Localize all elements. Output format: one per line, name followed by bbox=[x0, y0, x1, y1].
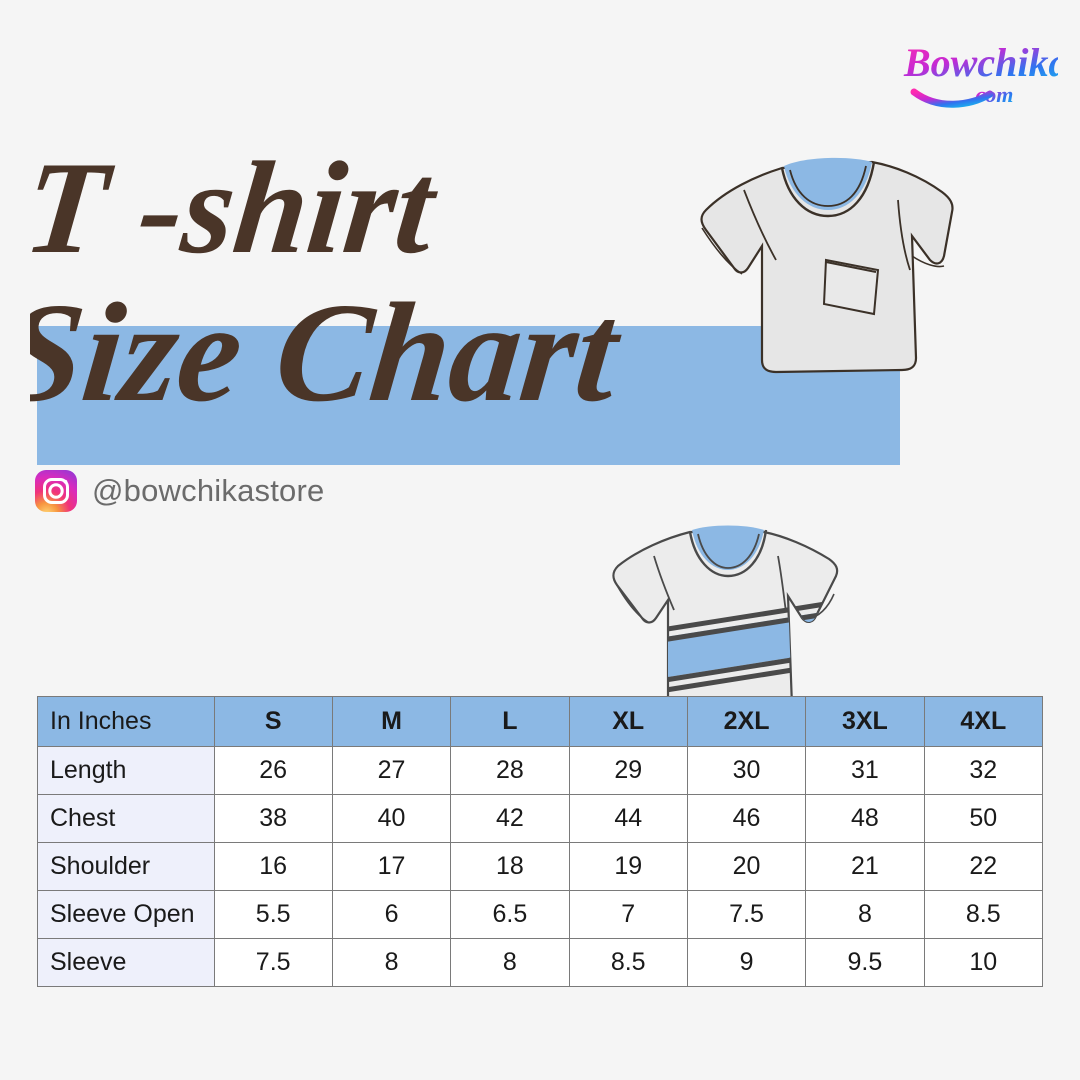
poster-canvas: Bowchika .com T -shirt Size Chart bbox=[0, 0, 1080, 1080]
headline-line-1: T -shirt bbox=[30, 134, 445, 281]
brand-logo-text: Bowchika bbox=[903, 40, 1058, 85]
cell-length-s: 26 bbox=[214, 747, 332, 795]
headline-block: T -shirt Size Chart bbox=[30, 112, 790, 462]
cell-shoulder-4xl: 22 bbox=[924, 843, 1042, 891]
cell-sleeve-xl: 8.5 bbox=[569, 939, 687, 987]
cell-shoulder-2xl: 20 bbox=[687, 843, 805, 891]
tshirt-pocket-illustration bbox=[686, 132, 954, 382]
size-chart-table-wrap: In Inches S M L XL 2XL 3XL 4XL Length 26… bbox=[37, 696, 1043, 987]
cell-sleeve-m: 8 bbox=[332, 939, 450, 987]
tshirt-striped-illustration bbox=[586, 514, 866, 714]
cell-length-xl: 29 bbox=[569, 747, 687, 795]
row-label-length: Length bbox=[38, 747, 215, 795]
table-corner-label: In Inches bbox=[38, 697, 215, 747]
cell-sleeve-2xl: 9 bbox=[687, 939, 805, 987]
cell-sleeve-open-xl: 7 bbox=[569, 891, 687, 939]
row-label-shoulder: Shoulder bbox=[38, 843, 215, 891]
cell-sleeve-open-3xl: 8 bbox=[806, 891, 924, 939]
table-header-size-4xl: 4XL bbox=[924, 697, 1042, 747]
table-row: Sleeve 7.5 8 8 8.5 9 9.5 10 bbox=[38, 939, 1043, 987]
instagram-handle-row[interactable]: @bowchikastore bbox=[34, 469, 324, 513]
table-header-size-s: S bbox=[214, 697, 332, 747]
instagram-icon[interactable] bbox=[34, 469, 78, 513]
cell-sleeve-open-l: 6.5 bbox=[451, 891, 569, 939]
cell-chest-xl: 44 bbox=[569, 795, 687, 843]
cell-shoulder-xl: 19 bbox=[569, 843, 687, 891]
cell-sleeve-l: 8 bbox=[451, 939, 569, 987]
cell-shoulder-l: 18 bbox=[451, 843, 569, 891]
table-header-size-m: M bbox=[332, 697, 450, 747]
cell-sleeve-s: 7.5 bbox=[214, 939, 332, 987]
tshirt-pocket bbox=[824, 260, 878, 314]
instagram-handle-text: @bowchikastore bbox=[92, 473, 324, 509]
cell-length-4xl: 32 bbox=[924, 747, 1042, 795]
cell-chest-3xl: 48 bbox=[806, 795, 924, 843]
cell-chest-l: 42 bbox=[451, 795, 569, 843]
table-header-row: In Inches S M L XL 2XL 3XL 4XL bbox=[38, 697, 1043, 747]
table-row: Length 26 27 28 29 30 31 32 bbox=[38, 747, 1043, 795]
headline-line-2: Size Chart bbox=[30, 273, 629, 431]
table-row: Shoulder 16 17 18 19 20 21 22 bbox=[38, 843, 1043, 891]
row-label-chest: Chest bbox=[38, 795, 215, 843]
cell-chest-4xl: 50 bbox=[924, 795, 1042, 843]
cell-shoulder-s: 16 bbox=[214, 843, 332, 891]
cell-sleeve-open-m: 6 bbox=[332, 891, 450, 939]
cell-length-2xl: 30 bbox=[687, 747, 805, 795]
cell-sleeve-open-4xl: 8.5 bbox=[924, 891, 1042, 939]
cell-sleeve-open-s: 5.5 bbox=[214, 891, 332, 939]
table-row: Chest 38 40 42 44 46 48 50 bbox=[38, 795, 1043, 843]
table-header-size-2xl: 2XL bbox=[687, 697, 805, 747]
cell-sleeve-4xl: 10 bbox=[924, 939, 1042, 987]
brand-logo[interactable]: Bowchika .com bbox=[898, 32, 1058, 110]
cell-length-l: 28 bbox=[451, 747, 569, 795]
table-header-size-l: L bbox=[451, 697, 569, 747]
cell-chest-2xl: 46 bbox=[687, 795, 805, 843]
row-label-sleeve-open: Sleeve Open bbox=[38, 891, 215, 939]
row-label-sleeve: Sleeve bbox=[38, 939, 215, 987]
cell-shoulder-m: 17 bbox=[332, 843, 450, 891]
table-header-size-xl: XL bbox=[569, 697, 687, 747]
size-chart-table: In Inches S M L XL 2XL 3XL 4XL Length 26… bbox=[37, 696, 1043, 987]
table-header-size-3xl: 3XL bbox=[806, 697, 924, 747]
cell-sleeve-3xl: 9.5 bbox=[806, 939, 924, 987]
table-row: Sleeve Open 5.5 6 6.5 7 7.5 8 8.5 bbox=[38, 891, 1043, 939]
cell-length-3xl: 31 bbox=[806, 747, 924, 795]
cell-chest-m: 40 bbox=[332, 795, 450, 843]
cell-sleeve-open-2xl: 7.5 bbox=[687, 891, 805, 939]
cell-length-m: 27 bbox=[332, 747, 450, 795]
cell-shoulder-3xl: 21 bbox=[806, 843, 924, 891]
cell-chest-s: 38 bbox=[214, 795, 332, 843]
